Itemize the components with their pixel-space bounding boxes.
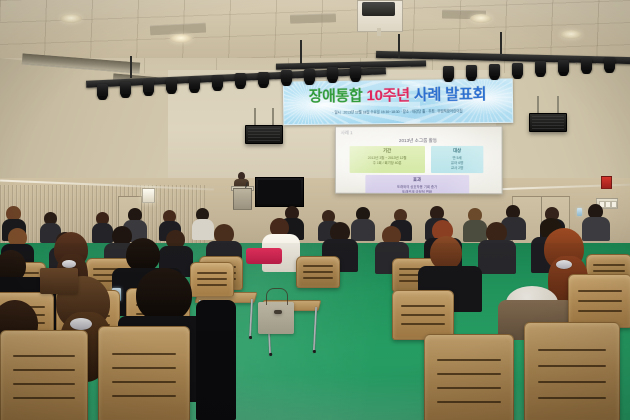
monitor-screen bbox=[258, 180, 301, 204]
stage-spotlight bbox=[581, 58, 592, 72]
chair-slat bbox=[303, 271, 333, 273]
stage-spotlight bbox=[281, 70, 292, 84]
podium bbox=[233, 188, 252, 210]
chair-slat bbox=[13, 355, 75, 357]
stage-spotlight bbox=[143, 80, 154, 94]
chair-slat bbox=[197, 284, 227, 286]
chair-slat bbox=[538, 365, 606, 367]
stage-spotlight bbox=[235, 73, 246, 87]
banner-title-part1: 장애통합 bbox=[309, 87, 363, 105]
banner-title: 장애통합 10주년 사례 발표회 bbox=[284, 86, 512, 104]
stage-spotlight bbox=[466, 65, 477, 79]
projector-icon bbox=[362, 2, 395, 16]
projection-screen: 사례 1 2013년 소그룹 활동 기간 2013년 3월 ~ 2013년 12… bbox=[335, 126, 503, 195]
chair-slat bbox=[538, 397, 606, 399]
tote-bag[interactable] bbox=[258, 302, 294, 334]
event-banner: 장애통합 10주년 사례 발표회 · 일시 : 2013년 12월 18일 수요… bbox=[283, 78, 513, 125]
torso bbox=[478, 240, 516, 274]
stage-spotlight bbox=[97, 84, 108, 98]
torso bbox=[192, 219, 214, 240]
speaker-mount-rod bbox=[537, 96, 539, 114]
stage-spotlight bbox=[512, 63, 523, 77]
ceiling-speaker-right bbox=[529, 113, 567, 132]
chair[interactable] bbox=[392, 290, 454, 340]
chair[interactable] bbox=[568, 274, 630, 328]
stage-spotlight bbox=[327, 67, 338, 81]
switch-toggle[interactable] bbox=[611, 201, 617, 208]
ceiling-downlight bbox=[470, 14, 492, 23]
chair-slat bbox=[112, 381, 177, 383]
chair-slat bbox=[197, 272, 227, 274]
hair-clip bbox=[62, 260, 76, 268]
chair-slat bbox=[112, 353, 177, 355]
truss-hanger bbox=[500, 32, 502, 54]
stage-spotlight bbox=[350, 66, 361, 80]
torso bbox=[196, 300, 236, 420]
pink-scarf bbox=[246, 248, 282, 264]
ceiling-speaker-left bbox=[245, 125, 283, 144]
chair-slat bbox=[197, 278, 227, 280]
hair-clip bbox=[556, 260, 572, 269]
truss-hanger bbox=[398, 34, 400, 58]
truss-hanger bbox=[300, 40, 302, 64]
chair-slat bbox=[578, 300, 623, 302]
speaker-grille bbox=[248, 128, 280, 141]
chair-slat bbox=[401, 314, 444, 316]
chair-slat bbox=[13, 383, 75, 385]
slide-box-cyan-title: 대상 bbox=[453, 148, 461, 154]
slide-heading: 2013년 소그룹 활동 bbox=[336, 138, 502, 144]
chair-slat bbox=[303, 277, 333, 279]
stage-spotlight bbox=[604, 57, 615, 71]
chair-slat bbox=[593, 270, 625, 272]
chair-foreground[interactable] bbox=[0, 330, 88, 420]
fire-alarm-icon[interactable] bbox=[601, 176, 612, 189]
torso bbox=[351, 219, 375, 241]
chair-slat bbox=[437, 387, 500, 389]
chair-slat bbox=[13, 369, 75, 371]
ceiling-vent bbox=[290, 13, 336, 24]
stage-spotlight bbox=[535, 61, 546, 75]
chair-slat bbox=[112, 395, 177, 397]
ceiling-downlight bbox=[60, 14, 82, 23]
slide-box-green: 기간 2013년 3월 ~ 2013년 12월 주 1회 / 회기당 40분 bbox=[350, 146, 425, 173]
chair-slat bbox=[401, 323, 444, 325]
stage-spotlight bbox=[212, 75, 223, 89]
ceiling-downlight bbox=[560, 30, 582, 39]
speaker-grille bbox=[532, 116, 564, 129]
stage-spotlight bbox=[120, 82, 131, 96]
chair-slat bbox=[593, 264, 625, 266]
stage-spotlight bbox=[166, 78, 177, 92]
chair-foreground[interactable] bbox=[98, 326, 190, 420]
leather-bag[interactable] bbox=[40, 268, 78, 294]
head bbox=[126, 238, 160, 272]
speaker-mount-rod bbox=[272, 108, 274, 126]
head bbox=[136, 268, 192, 322]
stage-spotlight bbox=[443, 66, 454, 80]
slide-box-green-line: 주 1회 / 회기당 40분 bbox=[373, 161, 402, 166]
truss-hanger bbox=[130, 56, 132, 78]
slide-box-purple-title: 효과 bbox=[413, 177, 421, 183]
tote-bag-label bbox=[274, 310, 282, 314]
stage-spotlight bbox=[258, 72, 269, 86]
slide-box-purple-line: 또래관계 긍정적 변화 bbox=[402, 190, 432, 195]
slide-tag: 사례 1 bbox=[341, 130, 353, 136]
chair-slat bbox=[13, 397, 75, 399]
stage-spotlight bbox=[489, 64, 500, 78]
chair-slat bbox=[112, 367, 177, 369]
torso bbox=[582, 217, 610, 241]
chair-slat bbox=[303, 265, 333, 267]
chair-foreground[interactable] bbox=[424, 334, 514, 420]
chair[interactable] bbox=[190, 262, 234, 297]
head bbox=[430, 236, 462, 270]
tote-bag-handle bbox=[266, 288, 288, 305]
chair[interactable] bbox=[296, 256, 340, 288]
chair-slat bbox=[538, 381, 606, 383]
torso bbox=[463, 220, 487, 242]
chair-foreground[interactable] bbox=[524, 322, 620, 420]
ceiling-downlight bbox=[170, 34, 192, 43]
banner-title-part3: 사례 발표회 bbox=[414, 86, 487, 104]
slide-box-cyan: 대상 만 5세 유아 6명 교사 2명 bbox=[431, 146, 483, 173]
chair-slat bbox=[578, 310, 623, 312]
stage-spotlight bbox=[558, 60, 569, 74]
auditorium-photo: 장애통합 10주년 사례 발표회 · 일시 : 2013년 12월 18일 수요… bbox=[0, 0, 630, 420]
slide-box-cyan-line: 교사 2명 bbox=[451, 166, 463, 171]
chair-slat bbox=[437, 401, 500, 403]
stage-monitor bbox=[255, 177, 304, 207]
chair-slat bbox=[401, 305, 444, 307]
slide-box-green-title: 기간 bbox=[383, 148, 391, 154]
chair-slat bbox=[538, 349, 606, 351]
phone-icon[interactable] bbox=[577, 208, 582, 216]
wall-sconce bbox=[142, 188, 155, 203]
chair-slat bbox=[437, 373, 500, 375]
projector-mount bbox=[377, 28, 381, 36]
stage-spotlight bbox=[304, 69, 315, 83]
torso bbox=[92, 223, 113, 243]
chair-slat bbox=[578, 290, 623, 292]
speaker-mount-rod bbox=[254, 108, 256, 126]
banner-title-part2: 10주년 bbox=[366, 87, 410, 105]
speaker-mount-rod bbox=[557, 96, 559, 114]
stage-spotlight bbox=[189, 77, 200, 91]
slide-box-purple: 효과 또래와의 상호작용 기회 증가 또래관계 긍정적 변화 자아존중감 향상 bbox=[365, 175, 469, 194]
hair-clip bbox=[70, 318, 92, 330]
chair-slat bbox=[437, 359, 500, 361]
